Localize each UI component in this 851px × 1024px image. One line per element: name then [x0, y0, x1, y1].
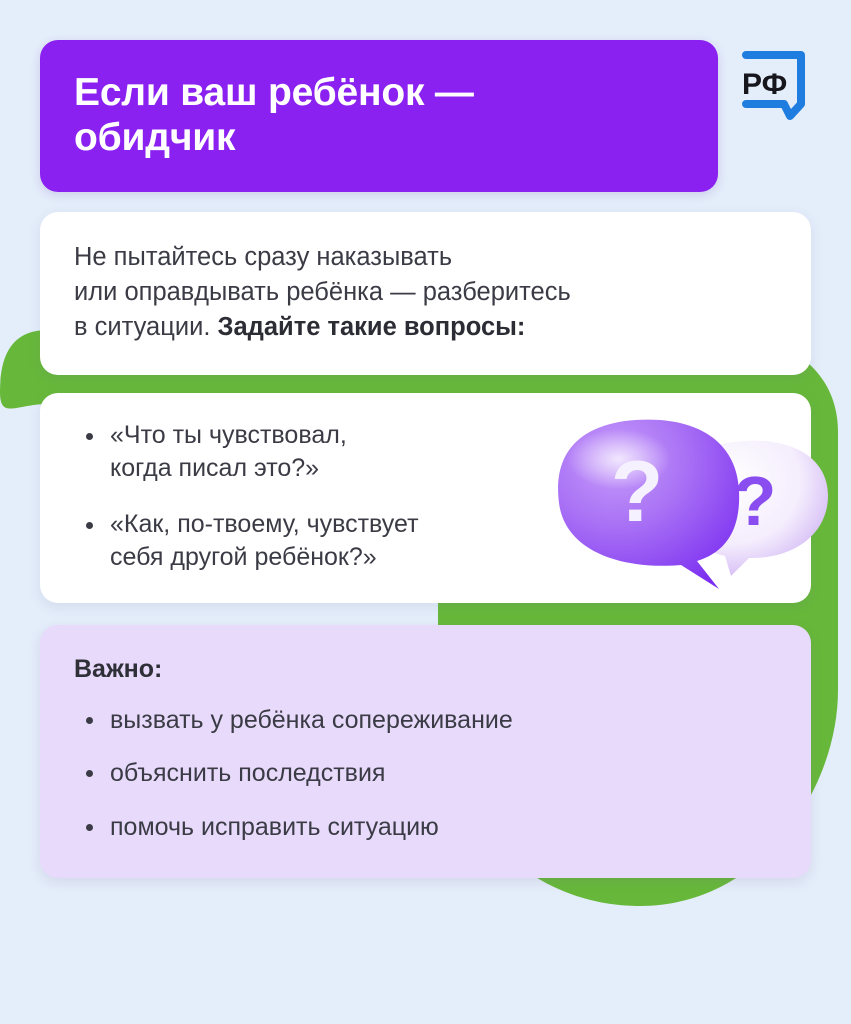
list-item: «Как, по-твоему, чувствует себя другой р… [74, 508, 544, 575]
content-stack: Если ваш ребёнок — обидчик РФ Не пытайте… [0, 0, 851, 878]
important-card: Важно: вызвать у ребёнка сопереживание о… [40, 625, 811, 879]
title-card: Если ваш ребёнок — обидчик [40, 40, 718, 192]
important-list: вызвать у ребёнка сопереживание объяснит… [74, 704, 777, 845]
page-title: Если ваш ребёнок — обидчик [74, 70, 474, 160]
questions-list: «Что ты чувствовал, когда писал это?» «К… [74, 419, 777, 575]
rf-logo-text: РФ [742, 68, 787, 101]
intro-card: Не пытайтесь сразу наказывать или оправд… [40, 212, 811, 375]
questions-card: «Что ты чувствовал, когда писал это?» «К… [40, 393, 811, 603]
important-title: Важно: [74, 655, 777, 684]
rf-logo: РФ [732, 46, 810, 124]
list-item: объяснить последствия [74, 757, 777, 791]
intro-text-bold: Задайте такие вопросы: [218, 313, 526, 341]
intro-text: Не пытайтесь сразу наказывать или оправд… [74, 240, 777, 345]
list-item: помочь исправить ситуацию [74, 811, 777, 845]
list-item: вызвать у ребёнка сопереживание [74, 704, 777, 738]
header: Если ваш ребёнок — обидчик РФ [40, 40, 811, 192]
list-item: «Что ты чувствовал, когда писал это?» [74, 419, 544, 486]
